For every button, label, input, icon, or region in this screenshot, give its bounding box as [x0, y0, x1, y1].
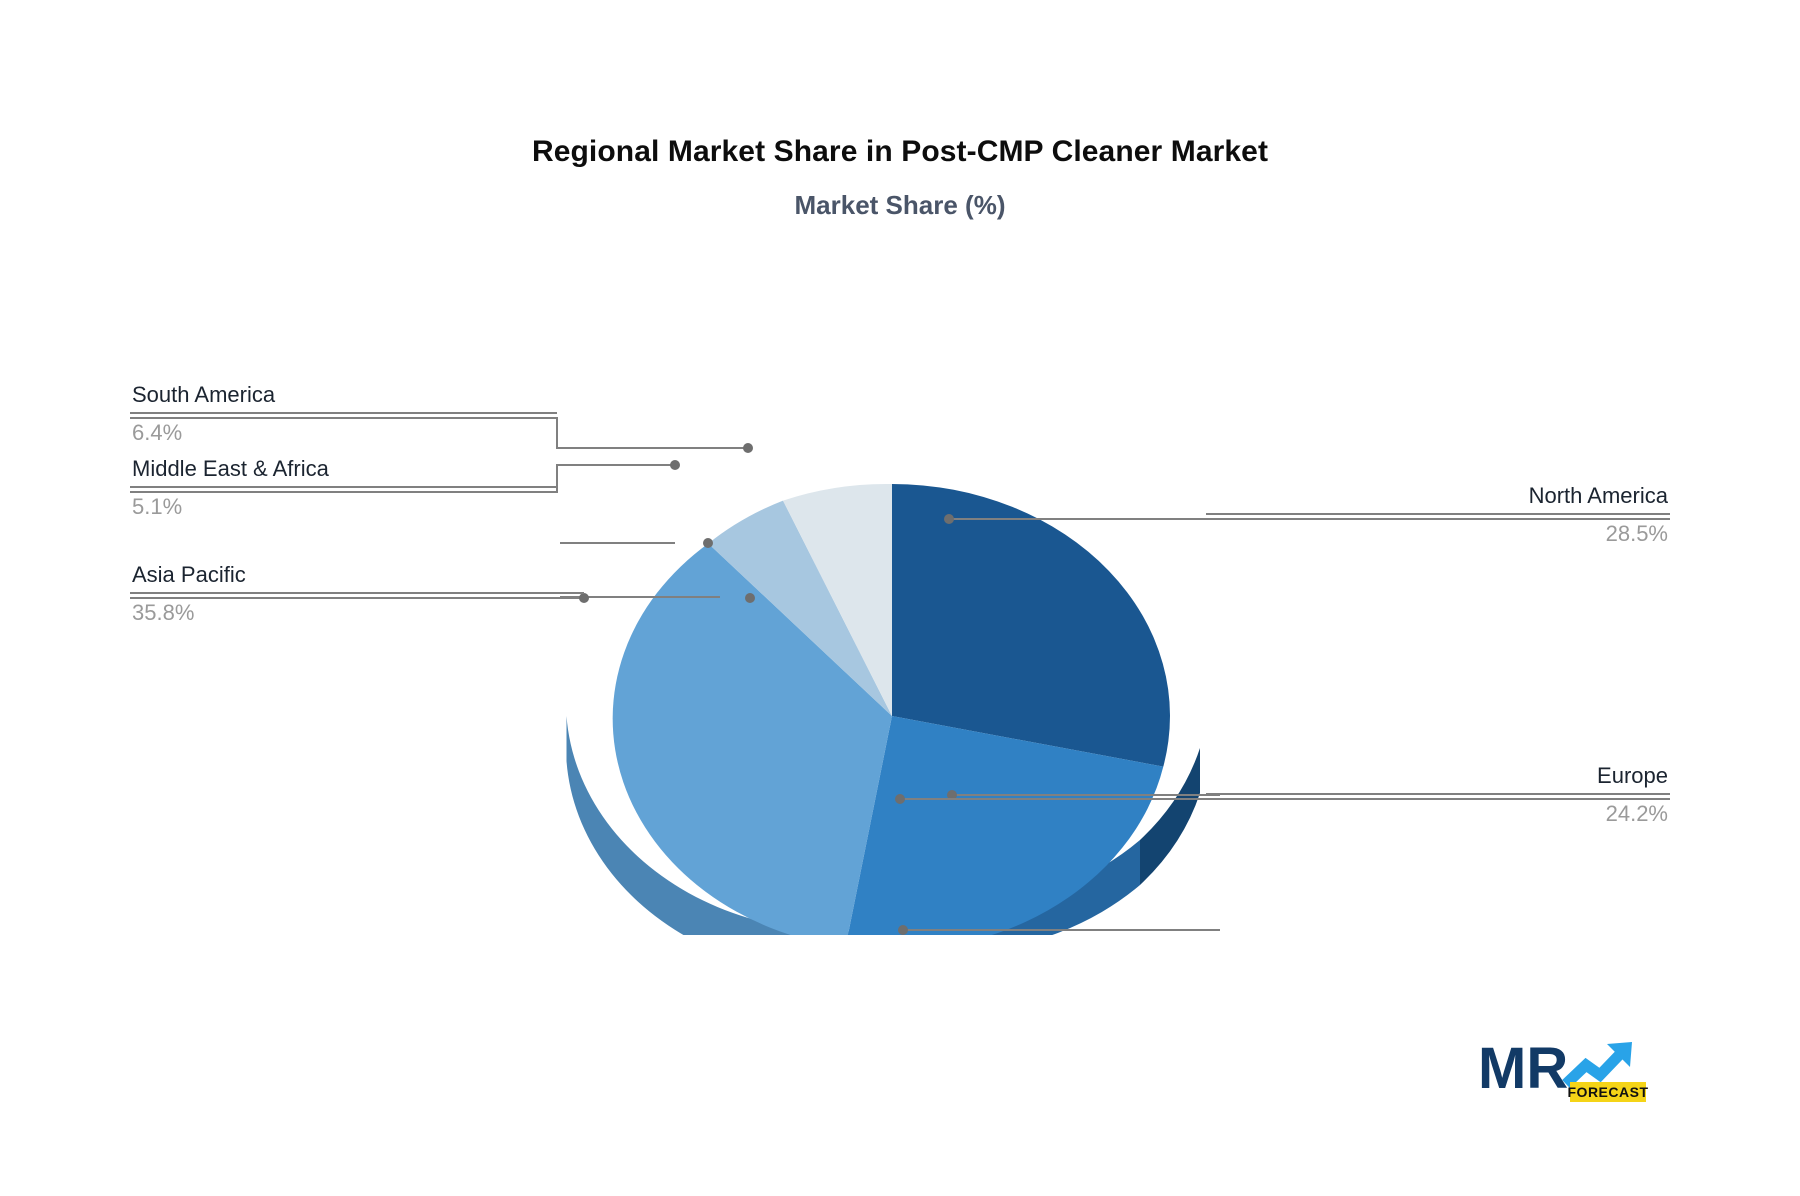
callout-value-middle-east-africa: 5.1% — [130, 488, 557, 519]
callout-label-asia-pacific: Asia Pacific — [130, 562, 584, 592]
logo-trend-arrow-icon — [1566, 1050, 1624, 1084]
leader-dot-middle-east-africa — [703, 538, 713, 548]
logo-wordmark: MR — [1478, 1036, 1568, 1101]
callout-value-asia-pacific: 35.8% — [130, 594, 584, 625]
callout-europe: Europe 24.2% — [1206, 763, 1670, 827]
callout-asia-pacific: Asia Pacific 35.8% — [130, 562, 584, 626]
callout-south-america: South America 6.4% — [130, 382, 557, 446]
page-title: Regional Market Share in Post-CMP Cleane… — [0, 135, 1800, 169]
callout-label-north-america: North America — [1206, 483, 1670, 513]
pie-svg — [560, 355, 1220, 935]
logo-badge-text: FORECAST — [1568, 1084, 1649, 1100]
pie-top-face — [613, 484, 1170, 935]
callout-middle-east-africa: Middle East & Africa 5.1% — [130, 456, 557, 520]
chart-subtitle: Market Share (%) — [0, 190, 1800, 221]
logo-svg: MR FORECAST — [1478, 1032, 1648, 1104]
mr-forecast-logo: MR FORECAST — [1478, 1032, 1648, 1104]
callout-value-europe: 24.2% — [1206, 795, 1670, 826]
leader-dot-south-america — [745, 593, 755, 603]
pie-chart — [560, 355, 1220, 935]
chart-canvas: Regional Market Share in Post-CMP Cleane… — [0, 0, 1800, 1196]
leader-dot-north-america — [947, 790, 957, 800]
callout-value-south-america: 6.4% — [130, 414, 557, 445]
callout-label-middle-east-africa: Middle East & Africa — [130, 456, 557, 486]
leader-dot-europe — [898, 925, 908, 935]
callout-north-america: North America 28.5% — [1206, 483, 1670, 547]
callout-label-europe: Europe — [1206, 763, 1670, 793]
callout-value-north-america: 28.5% — [1206, 515, 1670, 546]
callout-label-south-america: South America — [130, 382, 557, 412]
